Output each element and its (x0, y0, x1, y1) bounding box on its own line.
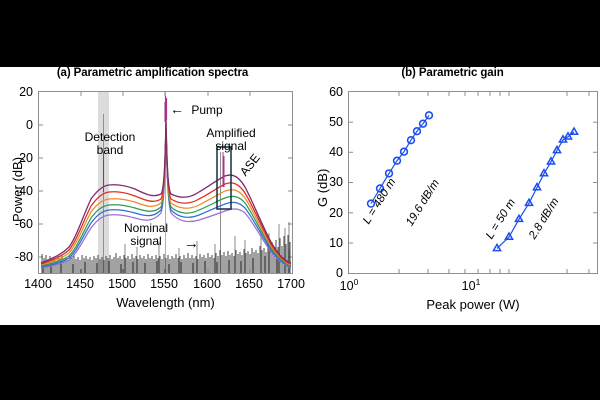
panel-b-axes: L = 480 m 19.6 dB/m L = 50 m 2.8 dB/m (348, 91, 598, 274)
panel-a-ytick-0: 0 (0, 118, 33, 132)
nominal-signal-arrow-icon: → (184, 235, 199, 252)
panel-b-ytick-40: 40 (309, 145, 343, 159)
panel-b-ytick-20: 20 (309, 206, 343, 220)
panel-a-title: (a) Parametric amplification spectra (0, 67, 305, 79)
panel-b-xtick-1e1-exp: 1 (476, 277, 481, 287)
amplified-signal-spike (223, 152, 224, 187)
panel-a-xtick-1400: 1400 (14, 277, 62, 291)
annotation-pump: ← Pump (170, 102, 230, 117)
annotation-nominal-signal: Nominal signal (110, 222, 182, 247)
annotation-detection-band: Detection band (72, 131, 148, 156)
panel-b-ytick-10: 10 (309, 236, 343, 250)
pump-spike (166, 96, 167, 120)
panel-a-ytick-m60: -60 (0, 217, 33, 231)
panel-b-xtick-1e1: 101 (451, 277, 491, 293)
annotation-nominal-signal-line1: Nominal (110, 222, 182, 235)
figure-root: (a) Parametric amplification spectra Pow… (0, 0, 600, 400)
panel-a-ytick-m80: -80 (0, 250, 33, 264)
annotation-nominal-signal-line2: signal (110, 235, 182, 248)
panel-b-title: (b) Parametric gain (305, 67, 600, 79)
panel-a-ytick-m40: -40 (0, 184, 33, 198)
panel-b-xtick-1e0: 100 (329, 277, 369, 293)
annotation-amplified-signal: Amplified signal (193, 127, 269, 152)
panel-b-xtick-1e0-exp: 0 (354, 277, 359, 287)
panel-a-parametric-amplification-spectra: (a) Parametric amplification spectra Pow… (0, 67, 305, 325)
panel-a-xtick-1600: 1600 (183, 277, 231, 291)
figure-canvas: (a) Parametric amplification spectra Pow… (0, 67, 600, 325)
annotation-amplified-signal-line1: Amplified (193, 127, 269, 140)
annotation-detection-band-line2: band (72, 144, 148, 157)
panel-a-ytick-m20: -20 (0, 151, 33, 165)
panel-b-ytick-50: 50 (309, 115, 343, 129)
pump-arrow-icon: ← (170, 101, 184, 117)
annotation-pump-label: Pump (191, 103, 222, 117)
panel-a-xtick-1450: 1450 (56, 277, 104, 291)
top-letterbox-bar (0, 0, 600, 67)
panel-a-ytick-20: 20 (0, 85, 33, 99)
panel-b-x-axis-label: Peak power (W) (348, 297, 598, 312)
panel-b-ytick-30: 30 (309, 175, 343, 189)
annotation-amplified-signal-line2: signal (193, 140, 269, 153)
panel-a-xtick-1500: 1500 (98, 277, 146, 291)
annotation-detection-band-line1: Detection (72, 131, 148, 144)
panel-b-ytick-60: 60 (309, 85, 343, 99)
panel-a-xtick-1650: 1650 (225, 277, 273, 291)
panel-a-x-axis-label: Wavelength (nm) (38, 295, 293, 310)
bottom-letterbox-bar (0, 325, 600, 400)
panel-a-xtick-1550: 1550 (140, 277, 188, 291)
panel-b-parametric-gain: (b) Parametric gain G (dB) 60 50 40 30 2… (305, 67, 600, 325)
